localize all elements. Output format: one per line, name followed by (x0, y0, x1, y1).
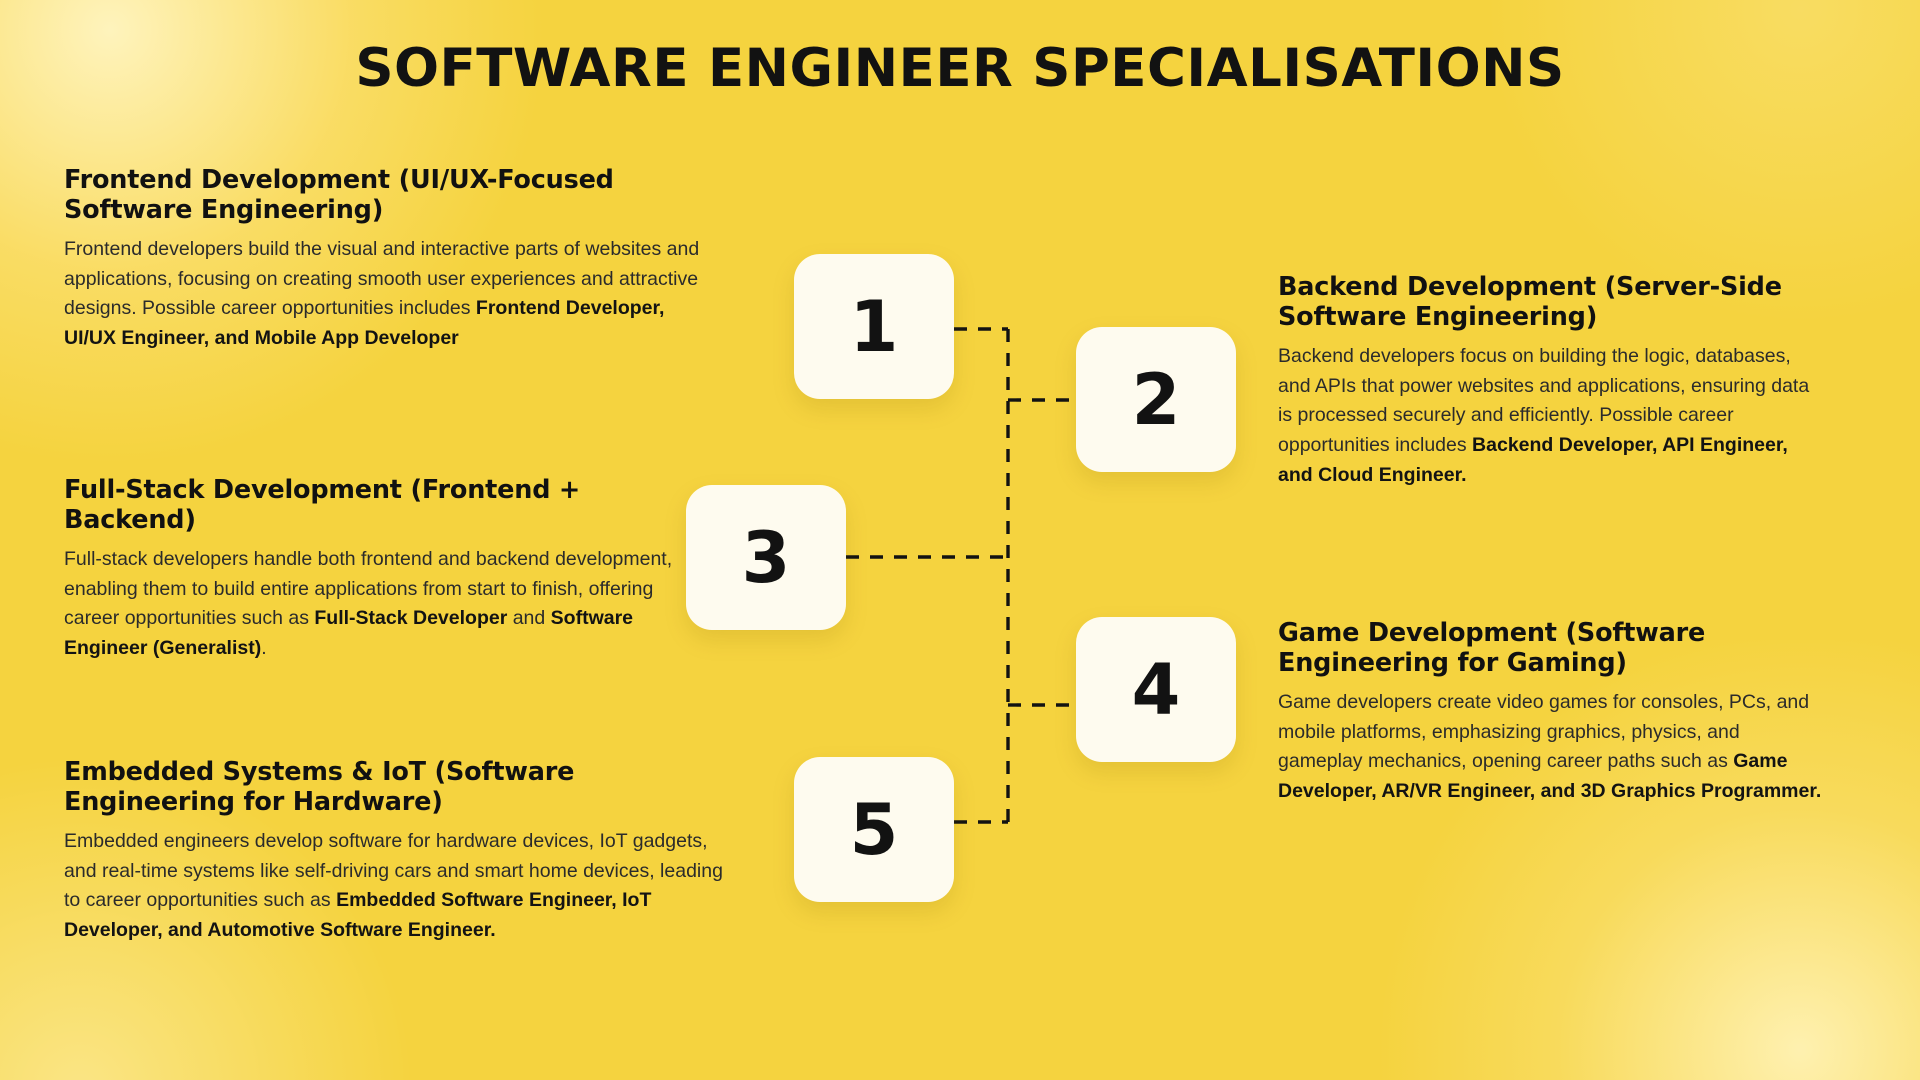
section-backend: Backend Development (Server-Side Softwar… (1278, 272, 1823, 490)
number-card-4[interactable]: 4 (1076, 617, 1236, 762)
number-card-2[interactable]: 2 (1076, 327, 1236, 472)
number-card-4-label: 4 (1132, 655, 1181, 725)
number-card-2-label: 2 (1132, 365, 1181, 435)
section-game: Game Development (Software Engineering f… (1278, 618, 1823, 807)
section-frontend-body: Frontend developers build the visual and… (64, 235, 704, 354)
section-fullstack-body: Full-stack developers handle both fronte… (64, 545, 684, 664)
section-backend-heading: Backend Development (Server-Side Softwar… (1278, 272, 1823, 332)
number-card-5-label: 5 (850, 795, 899, 865)
section-frontend-heading: Frontend Development (UI/UX-Focused Soft… (64, 165, 704, 225)
infographic-poster: SOFTWARE ENGINEER SPECIALISATIONS 1 2 3 … (0, 0, 1920, 1080)
section-embedded-body: Embedded engineers develop software for … (64, 827, 744, 946)
number-card-3[interactable]: 3 (686, 485, 846, 630)
number-card-1-label: 1 (850, 292, 899, 362)
number-card-3-label: 3 (742, 523, 791, 593)
section-game-heading: Game Development (Software Engineering f… (1278, 618, 1823, 678)
number-card-1[interactable]: 1 (794, 254, 954, 399)
section-embedded: Embedded Systems & IoT (Software Enginee… (64, 757, 744, 946)
section-fullstack-body-tail: . (261, 637, 266, 659)
section-game-body: Game developers create video games for c… (1278, 688, 1823, 807)
number-card-5[interactable]: 5 (794, 757, 954, 902)
section-embedded-heading: Embedded Systems & IoT (Software Enginee… (64, 757, 744, 817)
section-fullstack-body-career-1: Full-Stack Developer (314, 607, 507, 629)
section-frontend: Frontend Development (UI/UX-Focused Soft… (64, 165, 704, 354)
section-fullstack-heading: Full-Stack Development (Frontend + Backe… (64, 475, 684, 535)
section-fullstack-body-mid: and (507, 607, 550, 629)
page-title: SOFTWARE ENGINEER SPECIALISATIONS (0, 38, 1920, 99)
section-backend-body: Backend developers focus on building the… (1278, 342, 1823, 490)
section-game-body-lead: Game developers create video games for c… (1278, 691, 1809, 772)
section-fullstack: Full-Stack Development (Frontend + Backe… (64, 475, 684, 664)
